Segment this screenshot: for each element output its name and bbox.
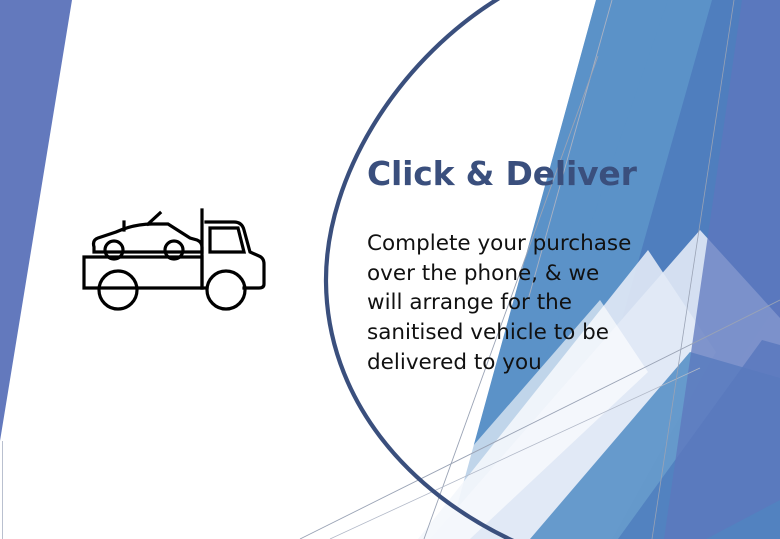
slide-text-block: Click & Deliver Complete your purchase o…: [367, 155, 639, 377]
slide-canvas: Click & Deliver Complete your purchase o…: [0, 0, 780, 539]
carried-car-body: [94, 224, 203, 252]
carried-car-windscreen: [148, 213, 160, 224]
left-wedge-shape: [0, 0, 72, 441]
car-carrier-tow-truck-icon: [78, 200, 270, 315]
slide-body-text: Complete your purchase over the phone, &…: [367, 229, 639, 377]
dark-blue-bottom-corner: [618, 340, 780, 539]
truck-cab-outline: [206, 222, 264, 288]
truck-cab-window: [210, 228, 244, 252]
right-edge-periwinkle-strip: [664, 0, 780, 539]
hairline-bottom-shallow: [330, 368, 700, 539]
truck-rear-wheel: [99, 271, 137, 309]
medium-blue-bottom-wedge: [530, 352, 780, 539]
hairline-right-steep: [652, 0, 734, 539]
page-title: Click & Deliver: [367, 155, 639, 193]
truck-front-wheel: [207, 271, 245, 309]
